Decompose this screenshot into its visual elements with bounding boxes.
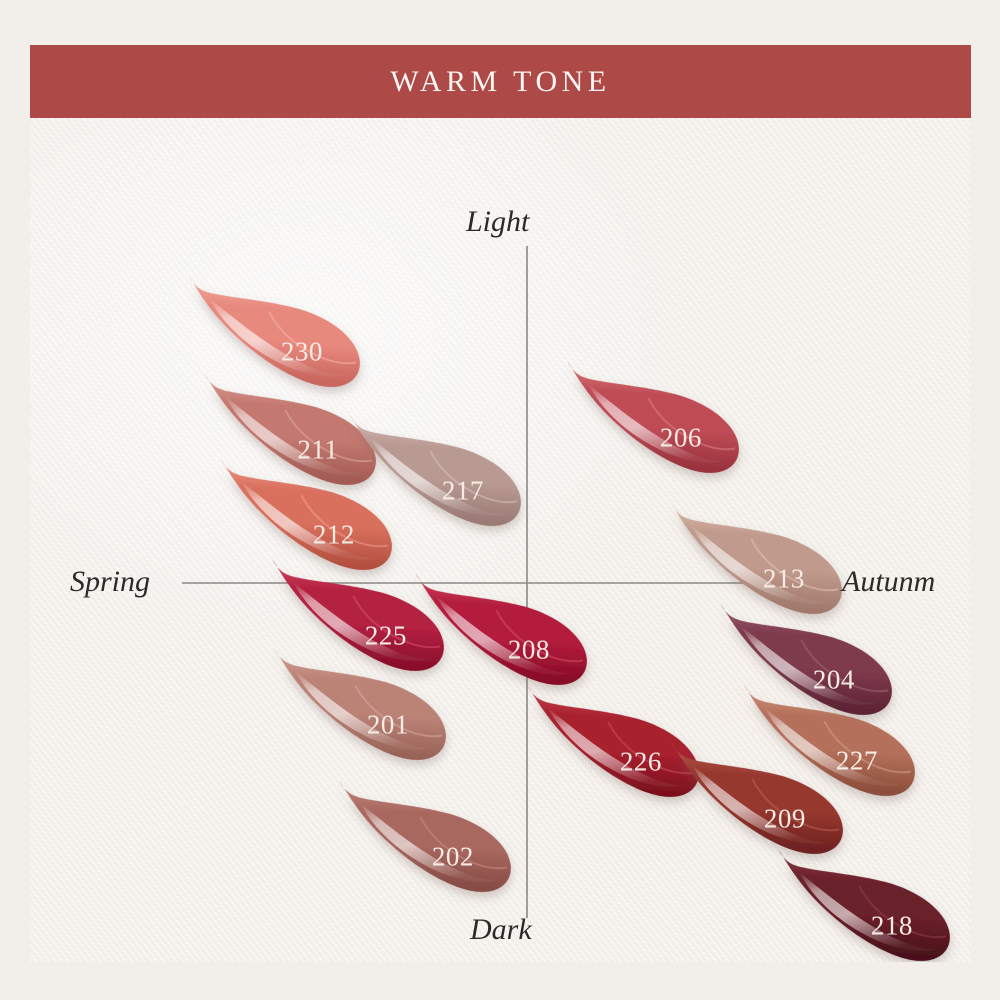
swatch-layer: 2302112122172062132252082042012262272092…: [169, 273, 962, 962]
swatch-body: [185, 371, 388, 494]
swatch-number-label: 213: [763, 564, 805, 594]
swatch-number-label: 212: [313, 520, 355, 550]
poster-card: WARM TONE 230211212217206213225208204201…: [30, 45, 971, 962]
swatch-number-label: 202: [432, 842, 474, 872]
page-title: WARM TONE: [390, 65, 610, 99]
swatch-body: [169, 273, 372, 396]
axis-label-autumn: Autunm: [842, 565, 935, 599]
lipstick-swatch[interactable]: 206: [548, 359, 751, 482]
swatch-body: [508, 683, 711, 806]
lipstick-swatch[interactable]: 218: [759, 847, 962, 962]
lipstick-swatch[interactable]: 202: [320, 778, 523, 901]
axis-label-dark: Dark: [470, 913, 532, 947]
axis-label-spring: Spring: [70, 565, 150, 599]
swatch-body: [701, 601, 904, 724]
chart-canvas: 2302112122172062132252082042012262272092…: [30, 118, 971, 962]
lipstick-swatch[interactable]: 204: [701, 601, 904, 724]
swatch-number-label: 218: [871, 911, 913, 941]
swatch-number-label: 217: [442, 476, 484, 506]
swatch-number-label: 226: [620, 747, 662, 777]
swatch-body: [201, 456, 404, 579]
header-band: WARM TONE: [30, 45, 971, 118]
swatch-plot: 2302112122172062132252082042012262272092…: [30, 118, 971, 962]
lipstick-swatch[interactable]: 226: [508, 683, 711, 806]
swatch-number-label: 225: [365, 621, 407, 651]
lipstick-swatch[interactable]: 212: [201, 456, 404, 579]
lipstick-swatch[interactable]: 213: [651, 500, 854, 623]
swatch-body: [320, 778, 523, 901]
swatch-number-label: 204: [813, 665, 855, 695]
swatch-number-label: 211: [297, 435, 338, 465]
swatch-number-label: 209: [764, 804, 806, 834]
swatch-number-label: 227: [836, 746, 878, 776]
lipstick-swatch[interactable]: 211: [185, 371, 388, 494]
swatch-body: [759, 847, 962, 962]
swatch-number-label: 201: [367, 710, 409, 740]
swatch-number-label: 208: [508, 635, 550, 665]
swatch-body: [548, 359, 751, 482]
swatch-number-label: 206: [660, 423, 702, 453]
lipstick-swatch[interactable]: 230: [169, 273, 372, 396]
swatch-number-label: 230: [281, 337, 323, 367]
swatch-body: [651, 500, 854, 623]
axis-label-light: Light: [466, 205, 529, 239]
